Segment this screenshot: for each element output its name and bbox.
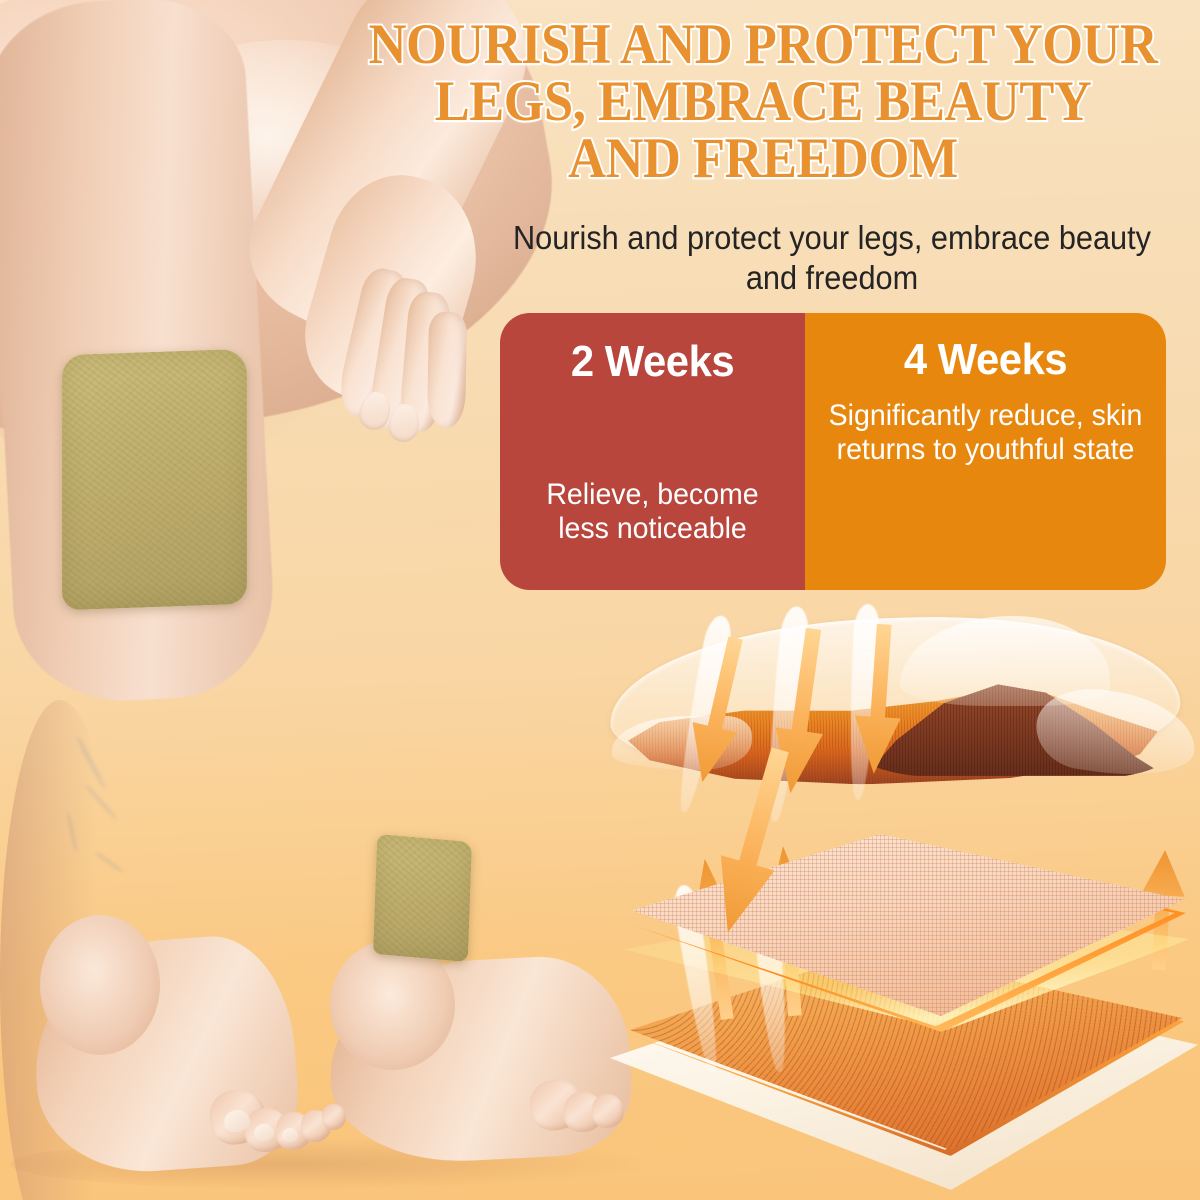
advertisement-canvas: Nourish and Protect Your Legs, Embrace B… [0,0,1200,1200]
toe [322,1104,346,1130]
toenail [254,1124,274,1141]
back-heel [330,940,455,1070]
headline-line-1: Nourish and Protect Your [365,16,1162,73]
knee-patch [62,349,247,611]
panel-2-weeks-description: Relieve, become less noticeable [521,478,784,546]
patch-layers-illustration [600,600,1200,1180]
comparison-card: 2 Weeks Relieve, become less noticeable … [500,313,1166,590]
panel-4-weeks-description: Significantly reduce, skin returns to yo… [827,399,1143,467]
panel-4-weeks: 4 Weeks Significantly reduce, skin retur… [805,313,1166,590]
headline-line-2: Legs, Embrace Beauty [365,73,1162,130]
headline-line-3: and Freedom [365,130,1162,187]
patch-mesh-layer [632,834,1184,1016]
ankle-patch [373,834,472,962]
finger [427,312,467,429]
panel-2-weeks-title: 2 Weeks [521,339,784,385]
toenail [282,1128,298,1142]
subtitle: Nourish and protect your legs, embrace b… [495,218,1168,299]
panel-2-weeks: 2 Weeks Relieve, become less noticeable [500,313,805,590]
headline: Nourish and Protect Your Legs, Embrace B… [365,16,1162,187]
front-heel [40,915,160,1055]
panel-4-weeks-title: 4 Weeks [827,337,1143,383]
